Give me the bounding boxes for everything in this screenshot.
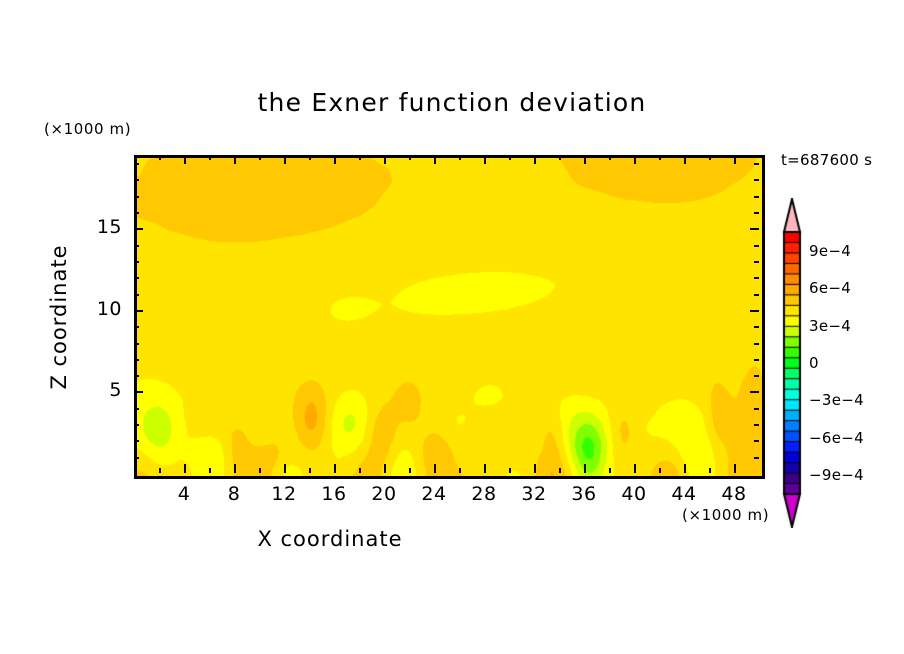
- y-tick-right: [754, 343, 759, 345]
- colorbar-tick-label: 9e−4: [809, 242, 851, 260]
- x-tick-top: [509, 155, 511, 160]
- y-tick-right: [754, 163, 759, 165]
- colorbar-gradient: [779, 198, 805, 528]
- y-tick: [134, 310, 143, 312]
- x-axis-units-label: (×1000 m): [682, 506, 769, 524]
- page-title: the Exner function deviation: [0, 88, 904, 117]
- x-tick: [709, 468, 711, 473]
- x-tick: [459, 468, 461, 473]
- y-tick-right: [754, 261, 759, 263]
- colorbar-tick-label: 6e−4: [809, 279, 851, 297]
- y-tick-right: [754, 179, 759, 181]
- y-tick-right: [754, 245, 759, 247]
- x-tick: [284, 464, 286, 473]
- y-tick-right: [754, 424, 759, 426]
- y-tick-right: [750, 310, 759, 312]
- x-tick-top: [159, 155, 161, 160]
- y-tick: [134, 391, 143, 393]
- x-tick: [309, 468, 311, 473]
- y-tick: [134, 343, 139, 345]
- y-tick: [134, 212, 139, 214]
- contour-field: [137, 158, 762, 476]
- y-tick: [134, 179, 139, 181]
- x-tick-top: [409, 155, 411, 160]
- y-tick-right: [754, 359, 759, 361]
- colorbar-tick-label: −6e−4: [809, 429, 864, 447]
- x-tick-top: [434, 155, 436, 164]
- colorbar-tick-label: 3e−4: [809, 317, 851, 335]
- x-tick-top: [684, 155, 686, 164]
- x-tick-top: [334, 155, 336, 164]
- y-tick: [134, 277, 139, 279]
- y-tick: [134, 408, 139, 410]
- y-tick-right: [754, 375, 759, 377]
- x-tick-top: [184, 155, 186, 164]
- x-tick: [234, 464, 236, 473]
- figure-canvas: the Exner function deviation (×1000 m) t…: [0, 0, 904, 654]
- x-tick-top: [659, 155, 661, 160]
- x-tick: [734, 464, 736, 473]
- y-tick-right: [750, 228, 759, 230]
- contour-plot-area: [134, 155, 765, 479]
- x-tick: [334, 464, 336, 473]
- y-tick: [134, 326, 139, 328]
- x-tick: [584, 464, 586, 473]
- x-tick: [159, 468, 161, 473]
- x-tick-top: [709, 155, 711, 160]
- x-tick: [209, 468, 211, 473]
- y-tick: [134, 359, 139, 361]
- x-tick-top: [234, 155, 236, 164]
- y-tick: [134, 245, 139, 247]
- x-tick: [484, 464, 486, 473]
- x-tick-top: [259, 155, 261, 160]
- y-tick: [134, 457, 139, 459]
- x-axis-title: X coordinate: [0, 527, 660, 551]
- x-tick: [609, 468, 611, 473]
- x-tick: [684, 464, 686, 473]
- y-tick-right: [754, 196, 759, 198]
- x-tick-top: [384, 155, 386, 164]
- x-tick: [634, 464, 636, 473]
- y-tick-label: 15: [62, 216, 122, 238]
- y-tick: [134, 261, 139, 263]
- colorbar-tick-label: 0: [809, 354, 819, 372]
- x-tick-top: [634, 155, 636, 164]
- y-tick: [134, 440, 139, 442]
- x-tick: [359, 468, 361, 473]
- y-tick-label: 10: [62, 298, 122, 320]
- x-tick-top: [534, 155, 536, 164]
- y-tick: [134, 228, 143, 230]
- y-tick-label: 5: [62, 379, 122, 401]
- y-tick-right: [754, 277, 759, 279]
- colorbar: [779, 198, 805, 528]
- colorbar-tick-label: −3e−4: [809, 391, 864, 409]
- y-tick-right: [750, 391, 759, 393]
- x-tick-top: [609, 155, 611, 160]
- x-tick: [384, 464, 386, 473]
- x-tick: [509, 468, 511, 473]
- x-tick: [259, 468, 261, 473]
- x-tick-top: [209, 155, 211, 160]
- x-tick: [409, 468, 411, 473]
- y-axis-units-label: (×1000 m): [44, 120, 131, 138]
- x-tick: [184, 464, 186, 473]
- y-tick-right: [754, 440, 759, 442]
- x-tick: [434, 464, 436, 473]
- x-tick: [534, 464, 536, 473]
- x-tick-top: [459, 155, 461, 160]
- y-tick-right: [754, 212, 759, 214]
- y-tick-right: [754, 326, 759, 328]
- x-tick: [559, 468, 561, 473]
- timestamp-label: t=687600 s: [781, 151, 872, 169]
- x-tick: [659, 468, 661, 473]
- x-tick-top: [309, 155, 311, 160]
- y-tick: [134, 424, 139, 426]
- x-tick-top: [584, 155, 586, 164]
- y-tick: [134, 196, 139, 198]
- x-tick-top: [484, 155, 486, 164]
- colorbar-tick-label: −9e−4: [809, 466, 864, 484]
- x-tick-top: [559, 155, 561, 160]
- x-tick-label: 48: [704, 483, 764, 505]
- y-tick: [134, 163, 139, 165]
- y-tick-right: [754, 408, 759, 410]
- x-tick-top: [284, 155, 286, 164]
- y-tick: [134, 294, 139, 296]
- y-tick: [134, 375, 139, 377]
- x-tick-top: [734, 155, 736, 164]
- y-tick-right: [754, 457, 759, 459]
- y-tick-right: [754, 294, 759, 296]
- x-tick-top: [359, 155, 361, 160]
